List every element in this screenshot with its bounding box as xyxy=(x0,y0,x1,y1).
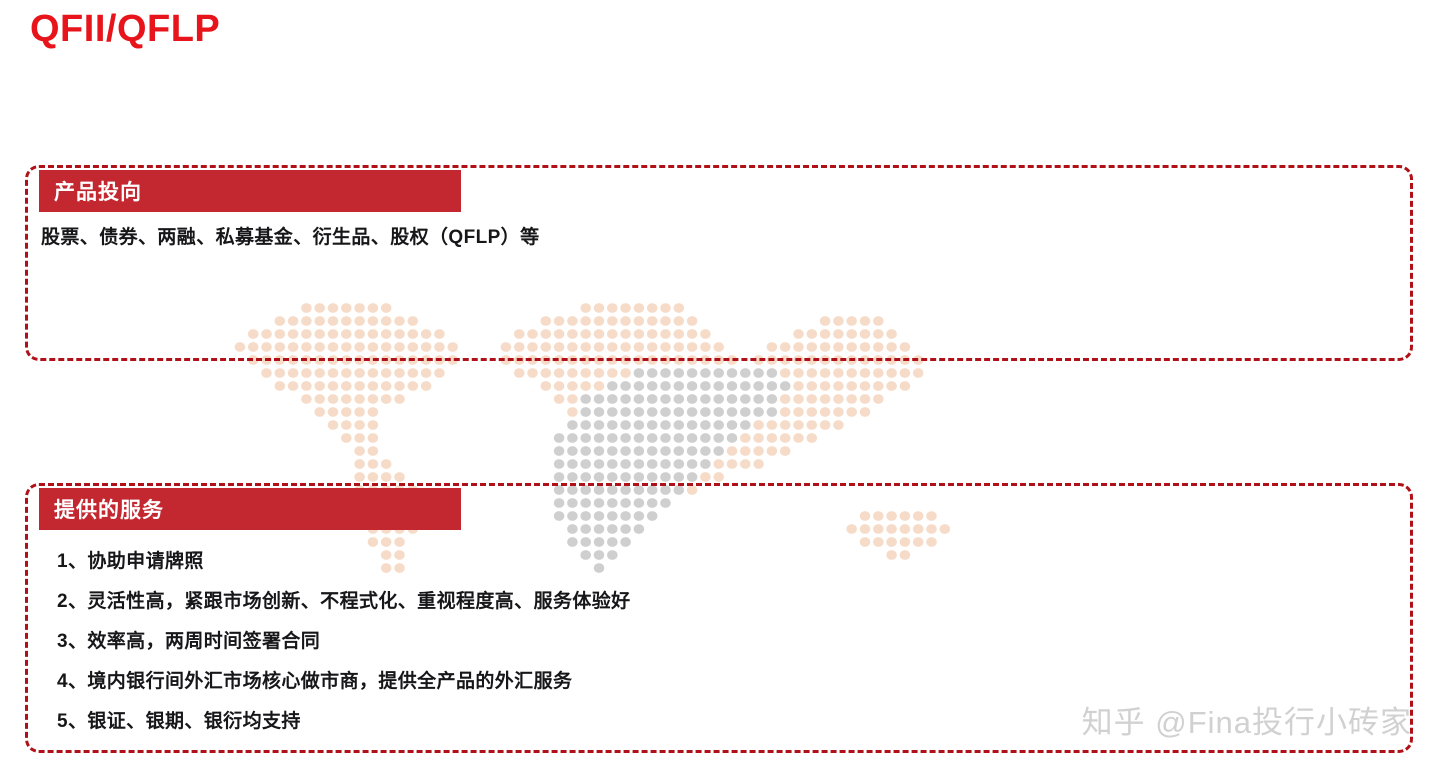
list-item: 2、灵活性高，紧跟市场创新、不程式化、重视程度高、服务体验好 xyxy=(57,582,1381,622)
panel-services-header-label: 提供的服务 xyxy=(54,494,164,524)
panel-product-header: 产品投向 xyxy=(39,170,461,212)
list-item: 1、协助申请牌照 xyxy=(57,542,1381,582)
list-item: 3、效率高，两周时间签署合同 xyxy=(57,622,1381,662)
list-item: 4、境内银行间外汇市场核心做市商，提供全产品的外汇服务 xyxy=(57,662,1381,702)
watermark: 知乎 @Fina投行小砖家 xyxy=(1082,697,1412,742)
panel-services-header: 提供的服务 xyxy=(39,488,461,530)
panel-product-body: 股票、债券、两融、私募基金、衍生品、股权（QFLP）等 xyxy=(41,222,1381,249)
product-body-line: 股票、债券、两融、私募基金、衍生品、股权（QFLP）等 xyxy=(41,222,1381,249)
panel-product-header-label: 产品投向 xyxy=(54,176,142,206)
page-title: QFII/QFLP xyxy=(30,8,220,51)
slide-canvas: QFII/QFLP 产品投向 股票、债券、两融、私募基金、衍生品、股权（QFLP… xyxy=(0,0,1440,780)
